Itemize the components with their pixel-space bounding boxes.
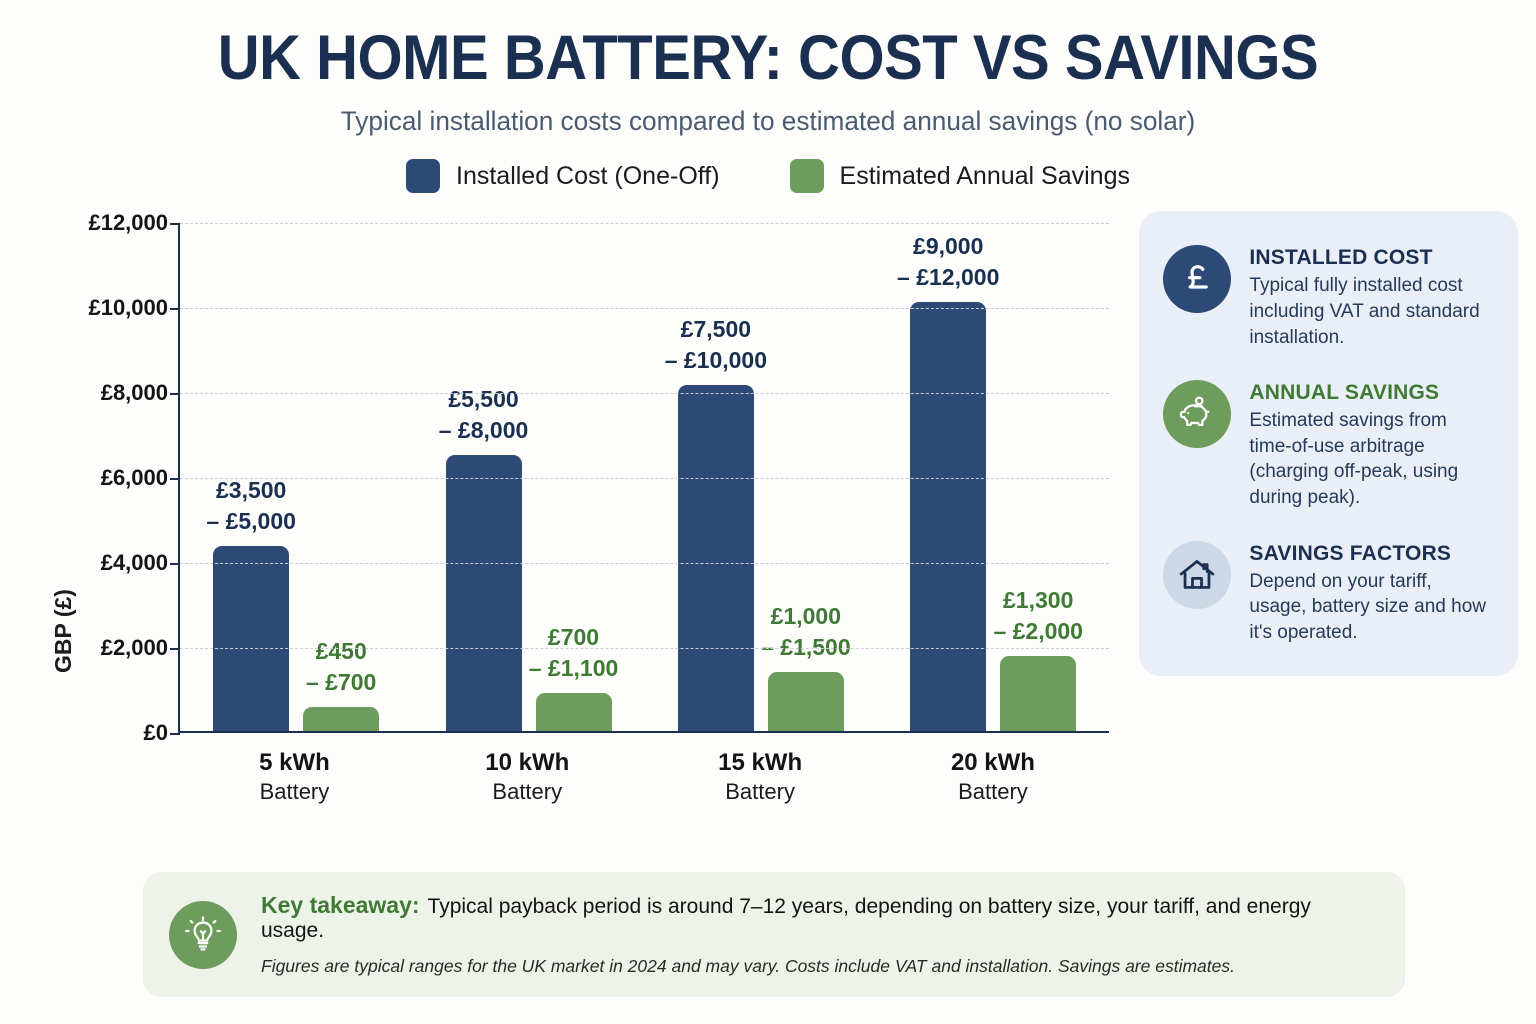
page-subtitle: Typical installation costs compared to e…	[23, 106, 1513, 137]
y-axis-tick-label: £0	[144, 720, 168, 746]
piggy-bank-icon	[1163, 380, 1231, 448]
chart-legend: Installed Cost (One-Off) Estimated Annua…	[0, 159, 1536, 193]
y-axis-tick-mark	[170, 393, 180, 395]
grid-line	[180, 308, 1109, 309]
side-text-block: INSTALLED COST Typical fully installed c…	[1249, 245, 1492, 350]
bar-groups: £3,500– £5,000£450– £700£5,500– £8,000£7…	[180, 223, 1109, 731]
legend-label: Estimated Annual Savings	[840, 162, 1130, 191]
bar-value-label: £3,500– £5,000	[206, 475, 296, 537]
bar-group: £3,500– £5,000£450– £700	[180, 223, 412, 731]
x-axis-size: 20 kWh	[877, 748, 1110, 778]
x-axis-size: 10 kWh	[411, 748, 644, 778]
bar-value-label: £1,000– £1,500	[761, 601, 851, 663]
plot-area: £3,500– £5,000£450– £700£5,500– £8,000£7…	[178, 223, 1109, 733]
bar-group: £7,500– £10,000£1,000– £1,500	[645, 223, 877, 731]
y-axis-tick-mark	[170, 223, 180, 225]
bar-installed-cost[interactable]: £5,500– £8,000	[446, 455, 522, 731]
y-axis-tick-label: £6,000	[101, 465, 168, 491]
grid-line	[180, 478, 1109, 479]
takeaway-main-line: Key takeaway:Typical payback period is a…	[261, 892, 1377, 943]
side-body: Estimated savings from time-of-use arbit…	[1249, 408, 1492, 511]
takeaway-footnote: Figures are typical ranges for the UK ma…	[261, 956, 1377, 977]
x-axis-group-label: 5 kWhBattery	[178, 748, 411, 806]
bar-value-label: £450– £700	[306, 636, 376, 698]
page-title: UK HOME BATTERY: COST VS SAVINGS	[61, 26, 1474, 90]
x-axis-unit: Battery	[644, 778, 877, 806]
grid-line	[180, 223, 1109, 224]
y-axis-tick-label: £8,000	[101, 380, 168, 406]
side-heading: ANNUAL SAVINGS	[1249, 381, 1492, 405]
side-heading: SAVINGS FACTORS	[1249, 542, 1492, 566]
pound-sterling-icon	[1163, 245, 1231, 313]
bar-installed-cost[interactable]: £3,500– £5,000	[213, 546, 289, 731]
legend-swatch-icon	[790, 159, 824, 193]
x-axis-group-label: 10 kWhBattery	[411, 748, 644, 806]
y-axis-tick-mark	[170, 308, 180, 310]
side-body: Depend on your tariff, usage, battery si…	[1249, 569, 1492, 646]
bar-installed-cost[interactable]: £7,500– £10,000	[678, 385, 754, 731]
key-takeaway-banner: Key takeaway:Typical payback period is a…	[143, 872, 1405, 997]
bar-value-label: £7,500– £10,000	[665, 314, 767, 376]
y-axis-tick-label: £2,000	[101, 635, 168, 661]
takeaway-text-block: Key takeaway:Typical payback period is a…	[261, 892, 1377, 977]
x-axis-size: 15 kWh	[644, 748, 877, 778]
legend-label: Installed Cost (One-Off)	[456, 162, 720, 191]
grid-line	[180, 563, 1109, 564]
side-item-installed-cost: INSTALLED COST Typical fully installed c…	[1163, 245, 1492, 350]
side-body: Typical fully installed cost including V…	[1249, 273, 1492, 350]
bar-group: £5,500– £8,000£700– £1,100	[412, 223, 644, 731]
bar-value-label: £700– £1,100	[529, 622, 619, 684]
y-axis-tick-label: £12,000	[88, 210, 168, 236]
x-axis-unit: Battery	[411, 778, 644, 806]
lightbulb-icon	[169, 901, 237, 969]
infographic-header: UK HOME BATTERY: COST VS SAVINGS Typical…	[0, 0, 1536, 137]
bar-chart: GBP (£) £3,500– £5,000£450– £700£5,500– …	[26, 203, 1121, 788]
bar-annual-savings[interactable]: £1,300– £2,000	[1000, 656, 1076, 732]
bar-annual-savings[interactable]: £1,000– £1,500	[768, 672, 844, 732]
x-axis-group-label: 15 kWhBattery	[644, 748, 877, 806]
side-text-block: SAVINGS FACTORS Depend on your tariff, u…	[1249, 541, 1492, 646]
y-axis-tick-label: £10,000	[88, 295, 168, 321]
bar-value-label: £1,300– £2,000	[993, 585, 1083, 647]
bar-value-label: £9,000– £12,000	[897, 231, 999, 293]
bar-group: £9,000– £12,000£1,300– £2,000	[877, 223, 1109, 731]
side-item-savings-factors: SAVINGS FACTORS Depend on your tariff, u…	[1163, 541, 1492, 646]
info-side-panel: INSTALLED COST Typical fully installed c…	[1139, 211, 1518, 675]
x-axis-unit: Battery	[178, 778, 411, 806]
takeaway-label: Key takeaway:	[261, 892, 420, 918]
x-axis-labels: 5 kWhBattery10 kWhBattery15 kWhBattery20…	[178, 748, 1109, 806]
y-axis-tick-mark	[170, 563, 180, 565]
grid-line	[180, 393, 1109, 394]
main-content-row: GBP (£) £3,500– £5,000£450– £700£5,500– …	[0, 203, 1536, 788]
legend-swatch-icon	[406, 159, 440, 193]
side-heading: INSTALLED COST	[1249, 246, 1492, 270]
bar-installed-cost[interactable]: £9,000– £12,000	[910, 302, 986, 731]
y-axis-title: GBP (£)	[50, 589, 77, 673]
x-axis-group-label: 20 kWhBattery	[877, 748, 1110, 806]
y-axis-tick-mark	[170, 478, 180, 480]
house-icon	[1163, 541, 1231, 609]
legend-item-installed-cost[interactable]: Installed Cost (One-Off)	[406, 159, 720, 193]
legend-item-annual-savings[interactable]: Estimated Annual Savings	[790, 159, 1130, 193]
grid-line	[180, 648, 1109, 649]
y-axis-tick-mark	[170, 733, 180, 735]
x-axis-size: 5 kWh	[178, 748, 411, 778]
bar-annual-savings[interactable]: £700– £1,100	[536, 693, 612, 731]
x-axis-unit: Battery	[877, 778, 1110, 806]
y-axis-tick-mark	[170, 648, 180, 650]
side-item-annual-savings: ANNUAL SAVINGS Estimated savings from ti…	[1163, 380, 1492, 511]
y-axis-tick-label: £4,000	[101, 550, 168, 576]
bar-annual-savings[interactable]: £450– £700	[303, 707, 379, 731]
side-text-block: ANNUAL SAVINGS Estimated savings from ti…	[1249, 380, 1492, 511]
